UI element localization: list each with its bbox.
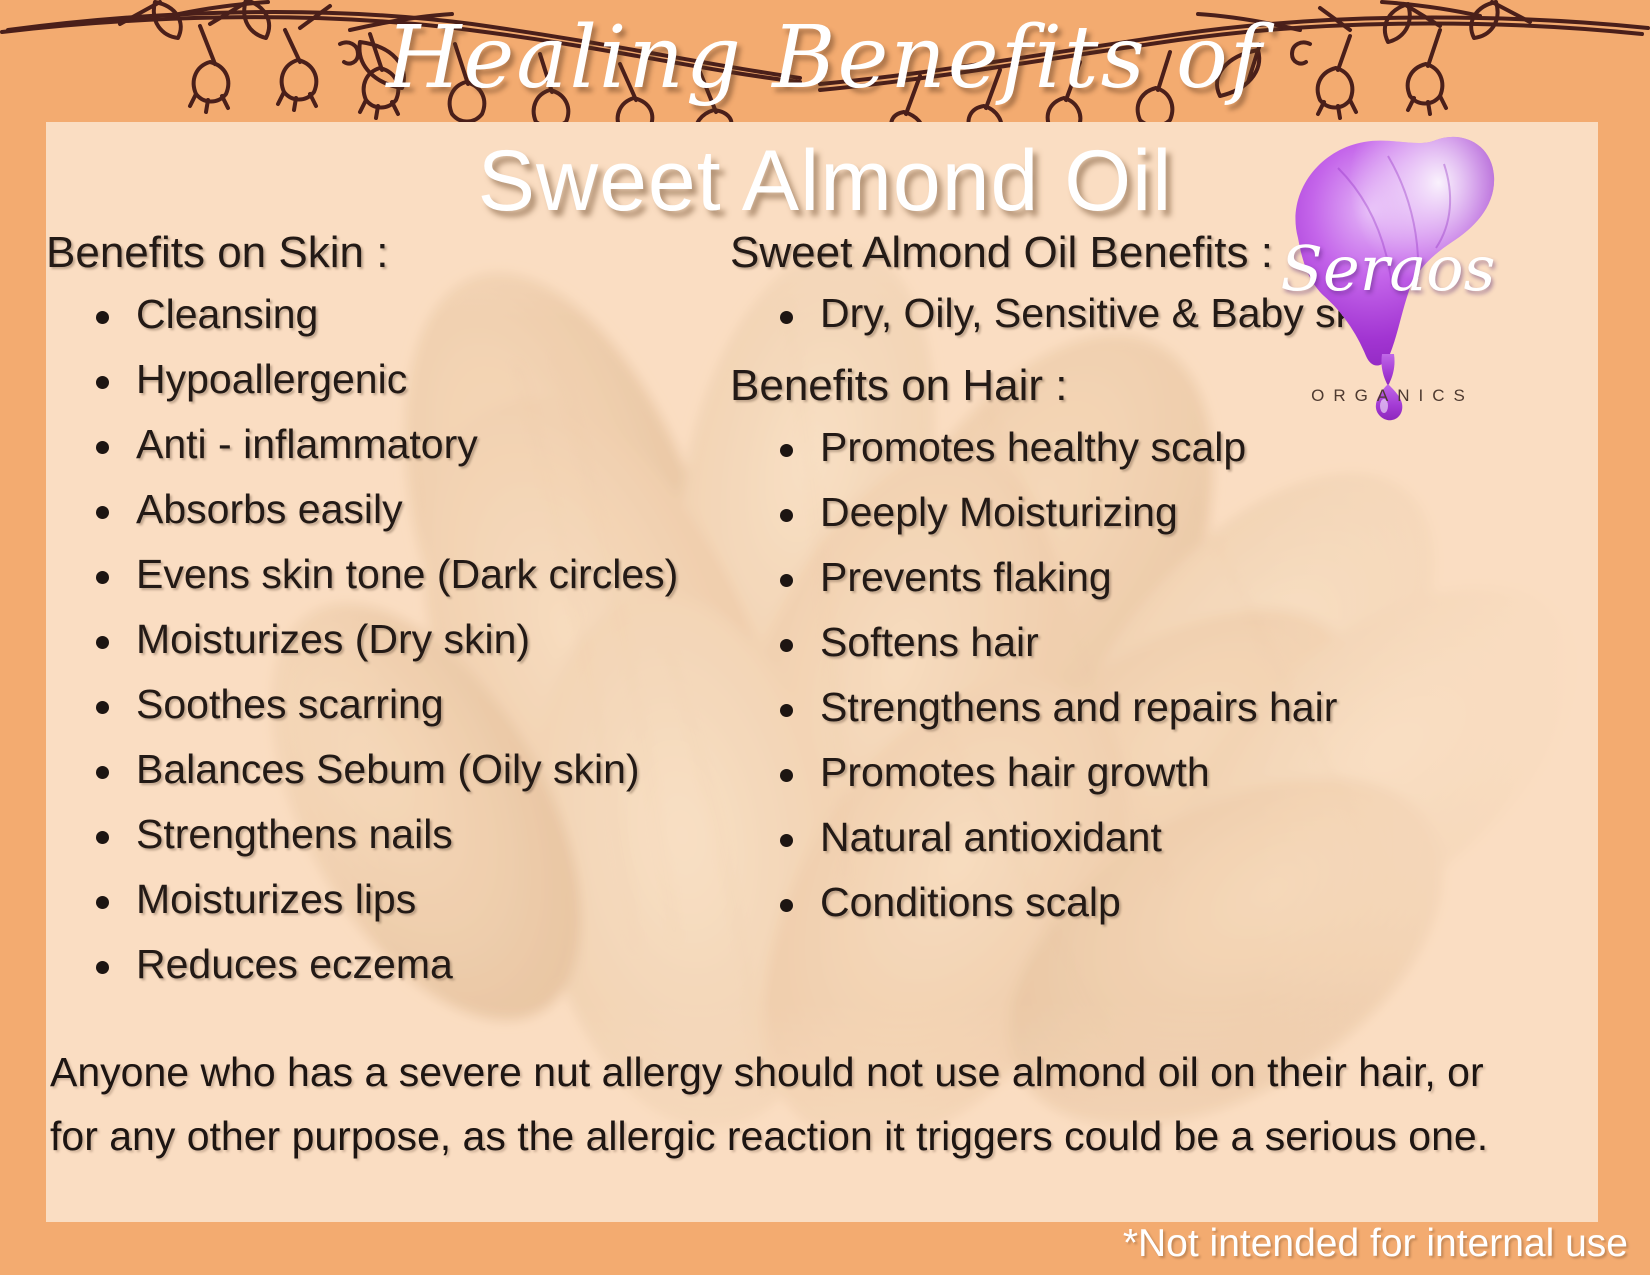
skin-benefits-column: Benefits on Skin : Cleansing Hypoallerge… — [46, 228, 736, 997]
list-item: Hypoallergenic — [90, 347, 736, 412]
script-title: Healing Benefits of — [0, 8, 1650, 108]
list-item: Cleansing — [90, 282, 736, 347]
skin-benefits-list: Cleansing Hypoallergenic Anti - inflamma… — [46, 282, 736, 997]
list-item: Strengthens and repairs hair — [774, 675, 1430, 740]
list-item: Conditions scalp — [774, 870, 1430, 935]
allergy-disclaimer: Anyone who has a severe nut allergy shou… — [50, 1040, 1590, 1168]
infographic-poster: Healing Benefits of Sweet Almond Oil — [0, 0, 1650, 1275]
hair-benefits-list: Promotes healthy scalp Deeply Moisturizi… — [730, 415, 1430, 935]
list-item: Softens hair — [774, 610, 1430, 675]
list-item: Natural antioxidant — [774, 805, 1430, 870]
brand-name: Seraos — [1268, 232, 1508, 305]
list-item: Deeply Moisturizing — [774, 480, 1430, 545]
skin-benefits-heading: Benefits on Skin : — [46, 228, 736, 278]
list-item: Moisturizes (Dry skin) — [90, 607, 736, 672]
list-item: Promotes hair growth — [774, 740, 1430, 805]
list-item: Strengthens nails — [90, 802, 736, 867]
list-item: Anti - inflammatory — [90, 412, 736, 477]
brand-logo: Seraos ORGANICS — [1268, 128, 1508, 428]
list-item: Evens skin tone (Dark circles) — [90, 542, 736, 607]
list-item: Moisturizes lips — [90, 867, 736, 932]
list-item: Reduces eczema — [90, 932, 736, 997]
list-item: Balances Sebum (Oily skin) — [90, 737, 736, 802]
internal-use-footnote: *Not intended for internal use — [1123, 1222, 1628, 1266]
disclaimer-line-1: Anyone who has a severe nut allergy shou… — [50, 1040, 1590, 1104]
disclaimer-line-2: for any other purpose, as the allergic r… — [50, 1104, 1590, 1168]
list-item: Prevents flaking — [774, 545, 1430, 610]
brand-tagline: ORGANICS — [1268, 386, 1508, 406]
list-item: Absorbs easily — [90, 477, 736, 542]
list-item: Soothes scarring — [90, 672, 736, 737]
